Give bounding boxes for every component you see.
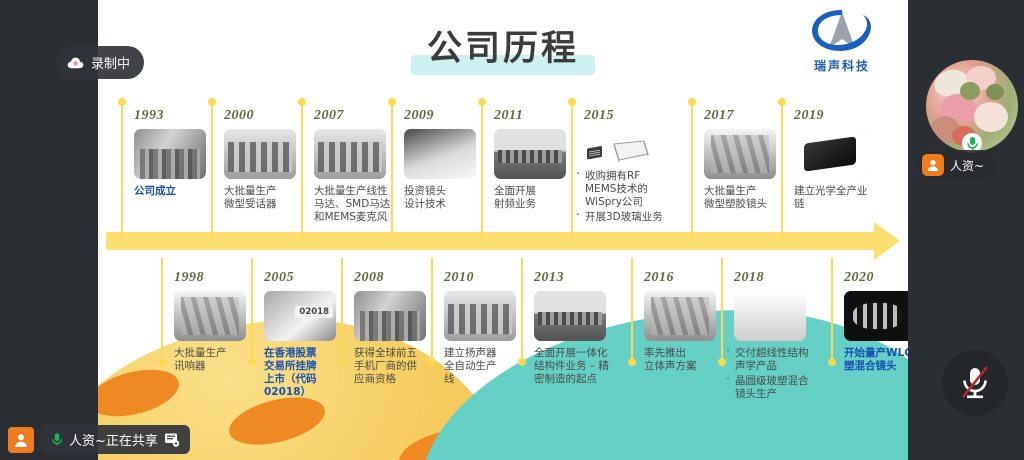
timeline-node-dot [688, 98, 696, 106]
event-bullet: 开展3D玻璃业务 [574, 211, 666, 224]
timeline-node-dot [248, 358, 256, 366]
event-description: 全面开展一体化结构件业务 – 精密制造的起点 [534, 347, 616, 386]
timeline-event: 2000大批量生产微型受话器 [210, 108, 306, 211]
event-thumbnail [134, 129, 206, 179]
event-thumbnail-image [314, 129, 386, 179]
event-description-line: 手机厂商的供 [354, 360, 436, 373]
event-description-line: 射频业务 [494, 198, 576, 211]
event-thumbnail-image [404, 129, 476, 179]
timeline-node-dot [478, 98, 486, 106]
event-description-line: 设计技术 [404, 198, 486, 211]
event-description-line: 全面开展 [494, 185, 576, 198]
timeline-node-dot [208, 98, 216, 106]
event-thumbnail-image [704, 129, 776, 179]
event-description-line: 全自动生产 [444, 360, 526, 373]
participant-name-badge: 人资~ [918, 150, 996, 180]
timeline-connector [631, 258, 633, 362]
event-description-line: 02018） [264, 386, 346, 399]
event-bullet: 晶圆级玻塑混合镜头生产 [724, 375, 816, 401]
event-thumbnail-image [844, 291, 908, 341]
bottom-status-bar: 人资~正在共享 [0, 425, 190, 454]
event-description-line: 率先推出 [644, 347, 726, 360]
timeline-axis [106, 232, 876, 250]
event-description-line: 大批量生产 [174, 347, 256, 360]
decor-leaf [986, 84, 1004, 100]
event-thumbnail [844, 291, 908, 341]
glass-cover-icon [610, 138, 650, 164]
event-bullet-list: 收购拥有RF MEMS技术的WiSpry公司开展3D玻璃业务 [574, 170, 666, 224]
event-description-line: 大批量生产线性 [314, 185, 396, 198]
timeline-event: 2019建立光学全产业链 [780, 108, 876, 211]
brand-name: 瑞声科技 [794, 57, 890, 74]
event-description: 公司成立 [134, 185, 216, 198]
timeline-node-dot [298, 98, 306, 106]
event-thumbnail-image [134, 129, 206, 179]
timeline-node-dot [118, 98, 126, 106]
event-thumbnail-image [354, 291, 426, 341]
stock-code-badge: 02018 [295, 306, 333, 318]
timeline-node-dot [628, 358, 636, 366]
share-status-label: 人资~正在共享 [69, 430, 158, 449]
event-thumbnail: 02018 [264, 291, 336, 341]
event-thumbnail [704, 129, 776, 179]
event-description-line: 塑混合镜头 [844, 360, 908, 373]
event-year: 2000 [224, 108, 306, 124]
event-description: 大批量生产微型受话器 [224, 185, 306, 211]
event-description: 建立扬声器全自动生产线 [444, 347, 526, 386]
event-description-line: 微型受话器 [224, 198, 306, 211]
event-bullet: 收购拥有RF MEMS技术的WiSpry公司 [574, 170, 666, 209]
event-thumbnail [644, 291, 716, 341]
event-description-line: 线 [444, 373, 526, 386]
shared-slide: 公司历程 瑞声科技 1993公司成立2000大批量生产微型受话器2007大批量生… [98, 0, 908, 460]
event-year: 2009 [404, 108, 486, 124]
timeline-event: 2017大批量生产微型塑胶镜头 [690, 108, 786, 211]
timeline-connector [481, 100, 483, 236]
event-description-line: 马达、SMD马达 [314, 198, 396, 211]
event-year: 2016 [644, 270, 726, 286]
event-description-line: 和MEMS麦克风 [314, 211, 396, 224]
timeline-node-dot [568, 98, 576, 106]
timeline-event: 2010建立扬声器全自动生产线 [430, 270, 526, 386]
timeline-connector [831, 258, 833, 362]
event-thumbnail [494, 129, 566, 179]
event-description-line: 微型塑胶镜头 [704, 198, 786, 211]
brand-logo: 瑞声科技 [794, 8, 890, 74]
event-description-line: 建立扬声器 [444, 347, 526, 360]
event-description: 大批量生产线性马达、SMD马达和MEMS麦克风 [314, 185, 396, 224]
timeline-event: 2015收购拥有RF MEMS技术的WiSpry公司开展3D玻璃业务 [570, 108, 666, 226]
timeline-event: 2016率先推出立体声方案 [630, 270, 726, 373]
meeting-screen: 公司历程 瑞声科技 1993公司成立2000大批量生产微型受话器2007大批量生… [0, 0, 1024, 460]
event-year: 2005 [264, 270, 346, 286]
timeline-connector [691, 100, 693, 236]
event-thumbnail [314, 129, 386, 179]
slide-title-wrap: 公司历程 [98, 18, 908, 77]
event-description-line: 结构件业务 – 精 [534, 360, 616, 373]
recording-label: 录制中 [91, 53, 130, 72]
title-highlight: 公司历程 [411, 18, 595, 77]
event-thumbnail [444, 291, 516, 341]
event-description: 投资镜头设计技术 [404, 185, 486, 211]
event-thumbnail [354, 291, 426, 341]
event-description: 获得全球前五手机厂商的供应商资格 [354, 347, 436, 386]
timeline-connector [211, 100, 213, 236]
event-thumbnail-image [534, 291, 606, 341]
event-description-line: 上市（代码 [264, 373, 346, 386]
timeline-connector [251, 258, 253, 362]
event-thumbnail [794, 129, 866, 179]
event-description: 建立光学全产业链 [794, 185, 876, 211]
share-status-pill[interactable]: 人资~正在共享 [41, 425, 190, 454]
timeline-connector [161, 258, 163, 362]
event-year: 1998 [174, 270, 256, 286]
event-year: 2020 [844, 270, 908, 286]
timeline-connector [721, 258, 723, 362]
decor-leaf [960, 82, 980, 100]
timeline-node-dot [428, 358, 436, 366]
chip-icon [584, 146, 606, 164]
timeline-event: 2009投资镜头设计技术 [390, 108, 486, 211]
event-year: 2008 [354, 270, 436, 286]
mute-toggle-button[interactable] [942, 350, 1008, 416]
event-thumbnail [174, 291, 246, 341]
event-thumbnail [224, 129, 296, 179]
event-thumbnail-image [794, 129, 866, 179]
participant-name: 人资~ [950, 157, 984, 174]
event-thumbnail [734, 291, 806, 341]
event-year: 2010 [444, 270, 526, 286]
event-bullet-list: 交付超线性结构声学产品晶圆级玻塑混合镜头生产 [724, 347, 816, 401]
event-description-line: 讯响器 [174, 360, 256, 373]
timeline-node-dot [778, 98, 786, 106]
event-year: 2018 [734, 270, 816, 286]
event-thumbnail-image [174, 291, 246, 341]
arrow-right-icon [874, 222, 900, 260]
timeline-connector [121, 100, 123, 236]
event-thumbnail-image [224, 129, 296, 179]
event-year: 2011 [494, 108, 576, 124]
event-description-line: 在香港股票 [264, 347, 346, 360]
microphone-muted-icon [958, 364, 992, 402]
event-description-line: 全面开展一体化 [534, 347, 616, 360]
timeline-event: 1998大批量生产讯响器 [160, 270, 256, 373]
person-avatar-icon [922, 154, 944, 176]
timeline-event: 2008获得全球前五手机厂商的供应商资格 [340, 270, 436, 386]
event-description-line: 大批量生产 [224, 185, 306, 198]
event-year: 2015 [584, 108, 666, 124]
event-description-line: 开始量产WLG玻 [844, 347, 908, 360]
event-description: 大批量生产讯响器 [174, 347, 256, 373]
timeline-connector [521, 258, 523, 362]
event-thumbnail-image [644, 291, 716, 341]
timeline-connector [301, 100, 303, 236]
event-description-line: 获得全球前五 [354, 347, 436, 360]
timeline-event: 1993公司成立 [120, 108, 216, 198]
event-description: 在香港股票交易所挂牌上市（代码02018） [264, 347, 346, 399]
event-year: 2019 [794, 108, 876, 124]
event-description-line: 公司成立 [134, 185, 216, 198]
timeline-event: 2018交付超线性结构声学产品晶圆级玻塑混合镜头生产 [720, 270, 816, 403]
timeline-connector [431, 258, 433, 362]
recording-badge[interactable]: 录制中 [56, 46, 144, 79]
timeline-connector [391, 100, 393, 236]
event-description: 全面开展射频业务 [494, 185, 576, 211]
timeline-connector [781, 100, 783, 236]
event-thumbnail-image [734, 291, 806, 341]
timeline-node-dot [338, 358, 346, 366]
timeline-event: 2011全面开展射频业务 [480, 108, 576, 211]
timeline-node-dot [388, 98, 396, 106]
screen-share-icon [164, 432, 180, 447]
event-description-line: 立体声方案 [644, 360, 726, 373]
timeline-node-dot [158, 358, 166, 366]
event-year: 2007 [314, 108, 396, 124]
event-thumbnail-image [494, 129, 566, 179]
microphone-icon [51, 432, 63, 447]
event-bullet: 交付超线性结构声学产品 [724, 347, 816, 373]
timeline-connector [341, 258, 343, 362]
timeline-node-dot [518, 358, 526, 366]
timeline-event: 2020开始量产WLG玻塑混合镜头 [830, 270, 908, 373]
event-description-line: 投资镜头 [404, 185, 486, 198]
event-description-line: 交易所挂牌 [264, 360, 346, 373]
timeline-node-dot [828, 358, 836, 366]
event-icon-cluster [584, 128, 666, 164]
event-description-line: 大批量生产 [704, 185, 786, 198]
event-description: 大批量生产微型塑胶镜头 [704, 185, 786, 211]
cloud-record-icon [67, 56, 84, 69]
timeline-event: 200502018在香港股票交易所挂牌上市（代码02018） [250, 270, 346, 399]
event-description: 率先推出立体声方案 [644, 347, 726, 373]
event-description-line: 应商资格 [354, 373, 436, 386]
timeline-event: 2007大批量生产线性马达、SMD马达和MEMS麦克风 [300, 108, 396, 224]
event-description-line: 密制造的起点 [534, 373, 616, 386]
person-avatar-icon [8, 427, 34, 453]
timeline-event: 2013全面开展一体化结构件业务 – 精密制造的起点 [520, 270, 616, 386]
event-thumbnail-image [444, 291, 516, 341]
event-description-line: 建立光学全产业链 [794, 185, 876, 211]
event-year: 1993 [134, 108, 216, 124]
event-description: 开始量产WLG玻塑混合镜头 [844, 347, 908, 373]
page-title: 公司历程 [427, 29, 579, 69]
decor-flower [974, 102, 1008, 132]
event-thumbnail [534, 291, 606, 341]
event-thumbnail [404, 129, 476, 179]
event-year: 2017 [704, 108, 786, 124]
event-year: 2013 [534, 270, 616, 286]
timeline-connector [571, 100, 573, 236]
aac-swoosh-logo-icon [807, 8, 877, 54]
